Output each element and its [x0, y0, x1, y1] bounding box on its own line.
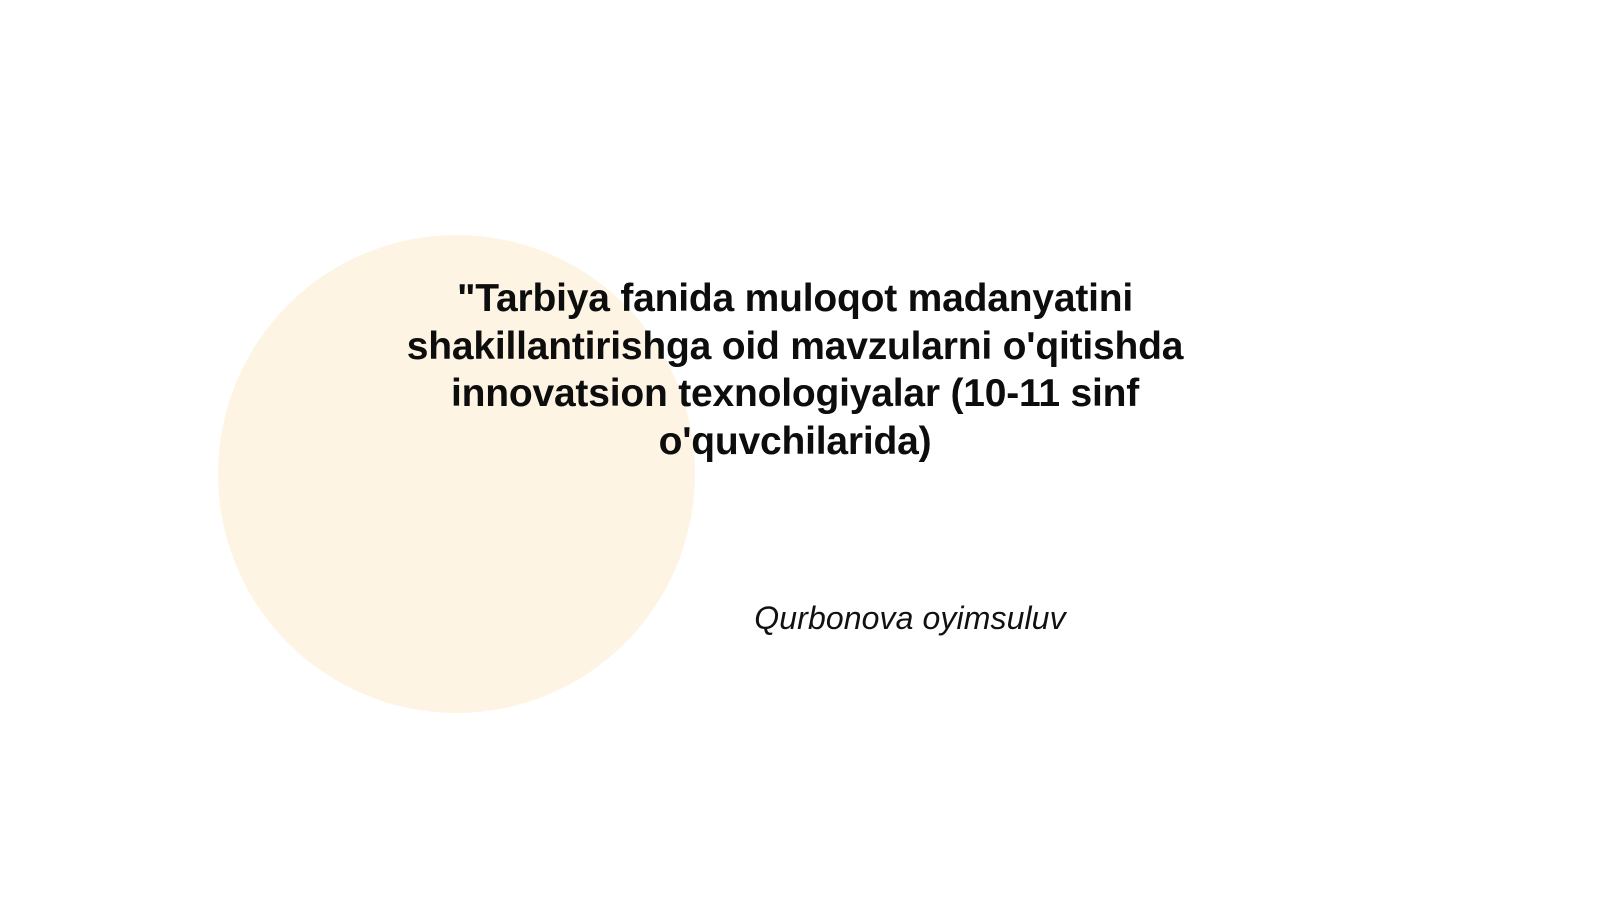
title-block: "Tarbiya fanida muloqot madanyatini shak…	[330, 275, 1260, 465]
slide-title: "Tarbiya fanida muloqot madanyatini shak…	[330, 275, 1260, 465]
author-block: Qurbonova oyimsuluv	[560, 598, 1260, 638]
title-slide: "Tarbiya fanida muloqot madanyatini shak…	[0, 0, 1600, 900]
author-name: Qurbonova oyimsuluv	[560, 598, 1260, 638]
